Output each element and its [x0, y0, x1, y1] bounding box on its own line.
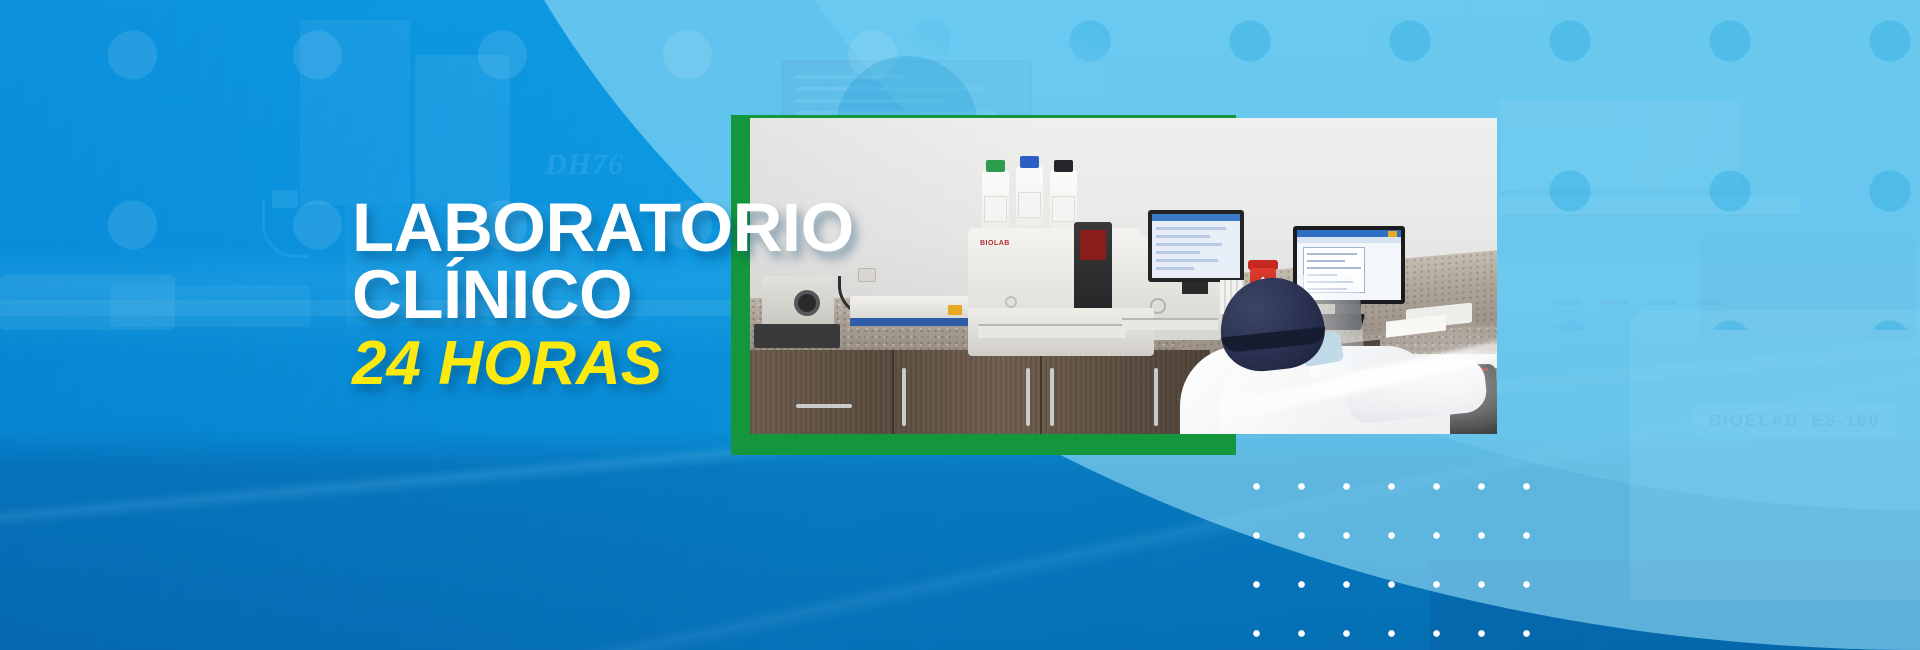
photo-reagent-bottle-1: [982, 170, 1009, 230]
photo-monitor-left-titlebar: [1152, 214, 1240, 221]
photo-cabinet-handle-4: [1154, 368, 1158, 426]
laboratory-hero-banner: DH76: [0, 0, 1920, 650]
photo-cabinet-handle-2: [1026, 368, 1030, 426]
photo-reagent-bottle-2: [1016, 166, 1043, 226]
photo-cabinet-seam-2: [1040, 350, 1042, 434]
background-analyzer-center: [415, 55, 510, 205]
photo-cabinet-handle-1: [902, 368, 906, 426]
photo-drawer-handle: [796, 404, 852, 408]
headline-line-3-accent: 24 HORAS: [352, 335, 854, 392]
photo-reagent-bottle-3: [1050, 170, 1077, 230]
background-equipment-label: DH76: [545, 148, 624, 182]
photo-monitor-right-titlebar: [1297, 230, 1401, 237]
headline-block: LABORATORIO CLÍNICO 24 HORAS: [352, 196, 854, 392]
photo-monitor-right-toolbar: [1297, 237, 1401, 243]
dot-grid-pattern: [1232, 452, 1562, 650]
photo-analyzer-brand: BIOLAB: [980, 240, 1010, 247]
photo-monitor-left-screen: [1152, 214, 1240, 278]
headline-line-1: LABORATORIO: [352, 196, 854, 259]
laboratory-photo: BIOLAB DH76: [750, 118, 1497, 434]
photo-small-analyzer-strip: [850, 318, 970, 326]
photo-monitor-left-stand: [1182, 282, 1208, 294]
photo-analyzer-dial-left: [1005, 296, 1017, 308]
photo-cabinet-handle-3: [1050, 368, 1054, 426]
background-printer: [0, 275, 175, 330]
photo-monitor-right-indicator: [1388, 231, 1397, 237]
headline-line-2: CLÍNICO: [352, 263, 854, 326]
photo-analyzer-tray-right: [1122, 318, 1218, 330]
background-power-cable: [262, 200, 308, 258]
background-scanner: [110, 285, 310, 327]
photo-cabinet-seam-1: [892, 350, 894, 434]
photo-monitor-left: [1148, 210, 1244, 282]
background-wall-outlet: [272, 190, 298, 208]
background-analyzer-left: [300, 20, 410, 205]
photo-analyzer-tray-left: [978, 324, 1126, 338]
